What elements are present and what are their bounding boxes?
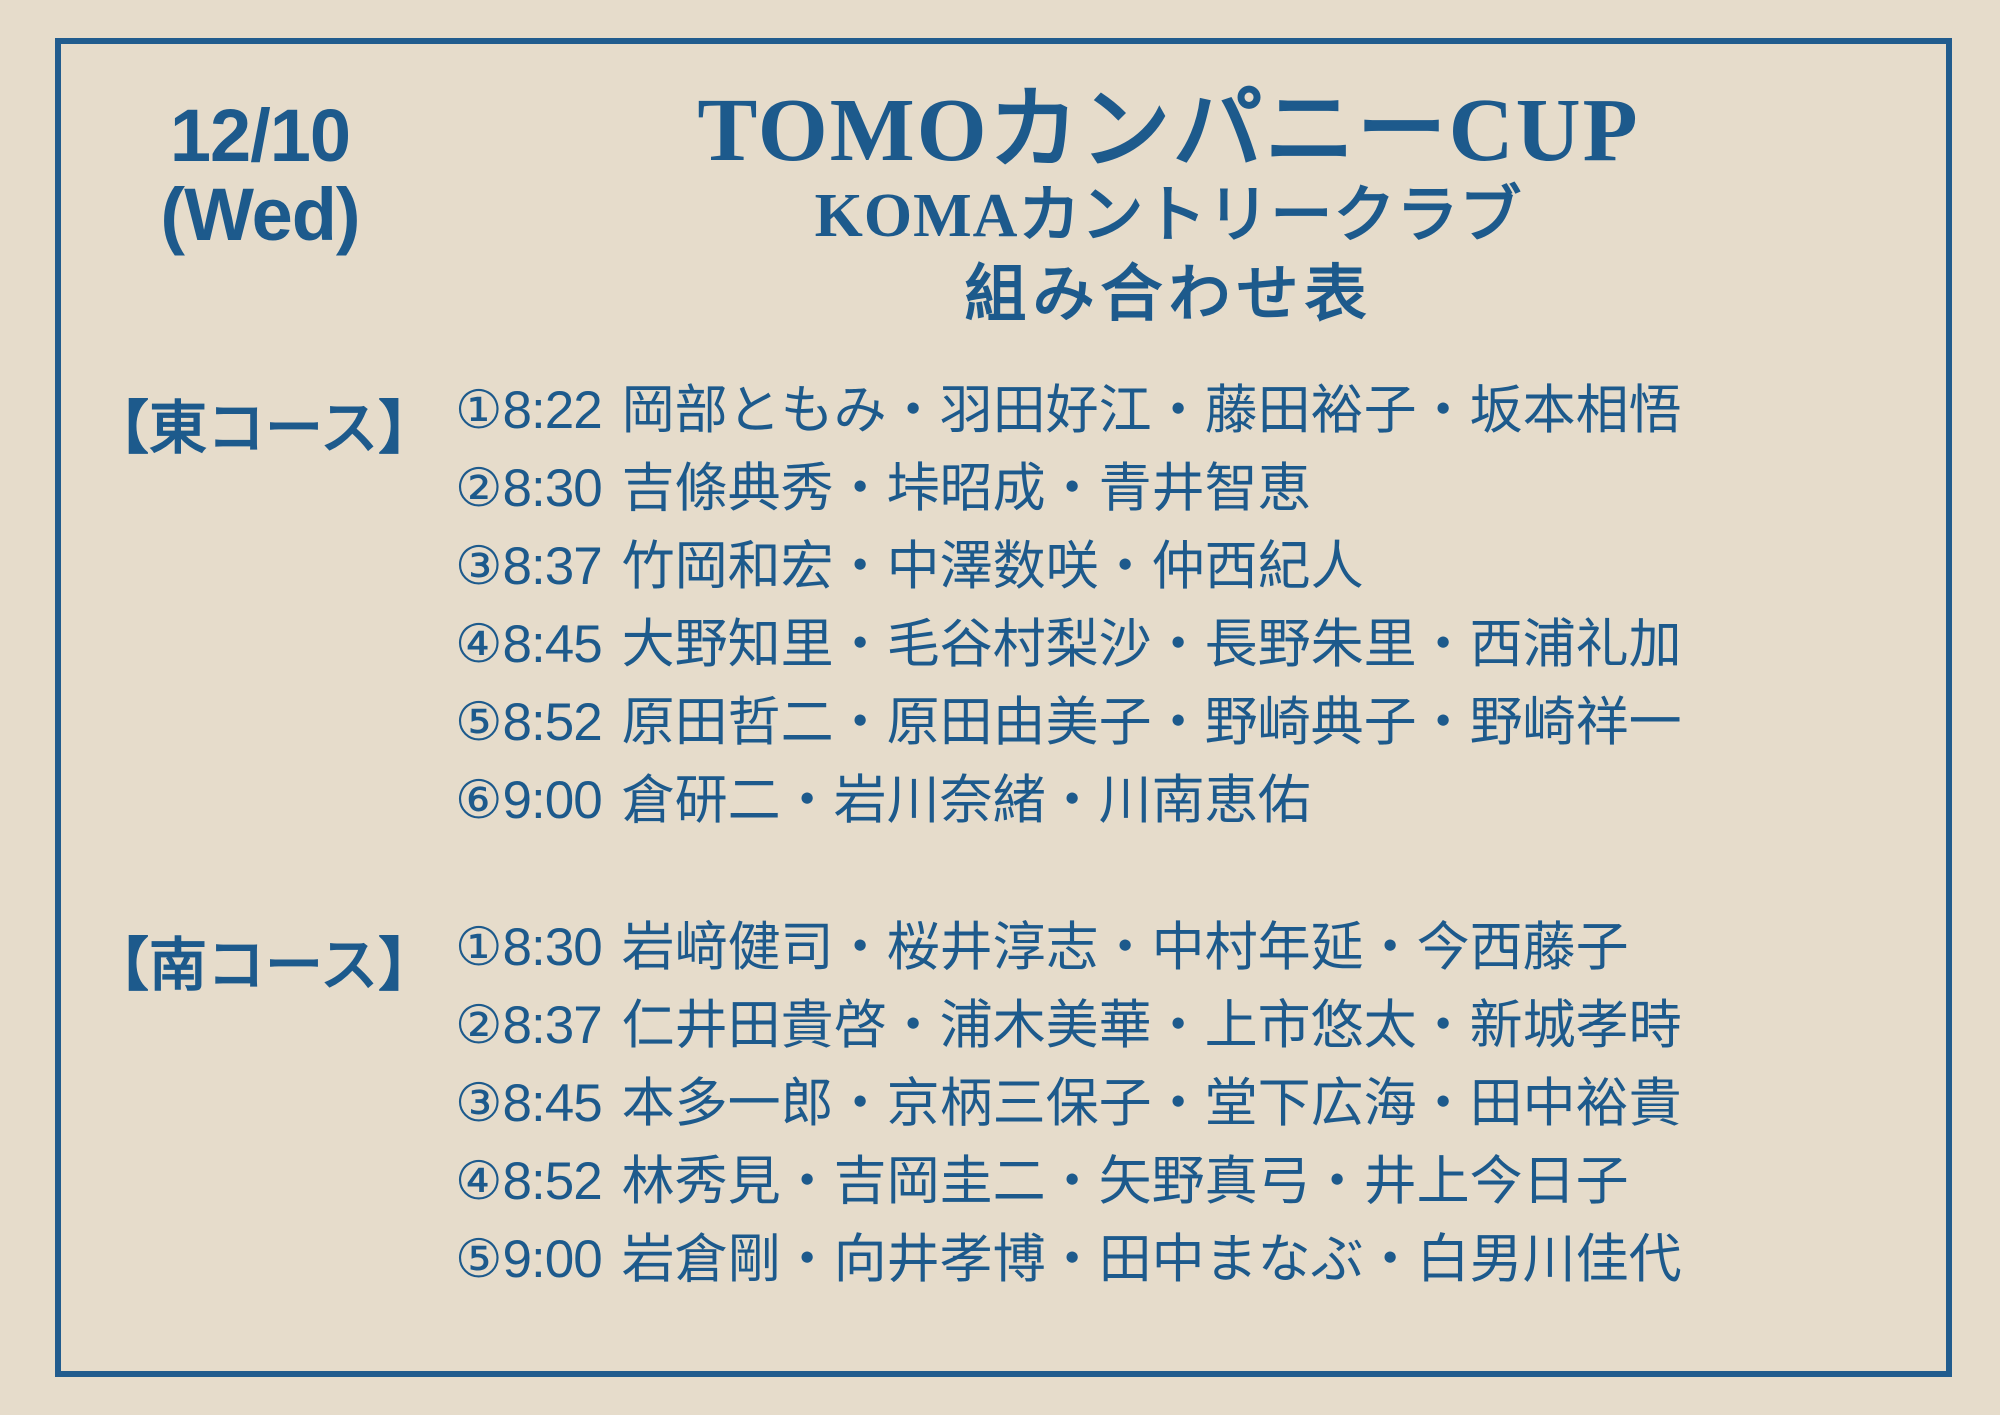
- poster-title-block: TOMOカンパニーCUP KOMAカントリークラブ 組み合わせ表: [385, 82, 1952, 333]
- group-row: ⑥9:00倉研二・岩川奈緒・川南恵佑: [455, 762, 1952, 840]
- course-label-south: 【南コース】: [55, 903, 455, 995]
- group-time: 8:45: [503, 1074, 602, 1133]
- event-date-line1: 12/10: [170, 94, 350, 177]
- group-time: 9:00: [503, 771, 602, 830]
- group-number: ④: [455, 615, 503, 674]
- group-row: ⑤8:52原田哲二・原田由美子・野崎典子・野崎祥一: [455, 684, 1952, 762]
- group-time: 8:22: [503, 381, 602, 440]
- group-time: 8:37: [503, 996, 602, 1055]
- group-players: 吉條典秀・垰昭成・青井智恵: [622, 459, 1311, 518]
- group-number: ③: [455, 537, 503, 596]
- group-players: 岡部ともみ・羽田好江・藤田裕子・坂本相悟: [622, 381, 1682, 440]
- group-row: ⑤9:00岩倉剛・向井孝博・田中まなぶ・白男川佳代: [455, 1221, 1952, 1299]
- group-row: ②8:37仁井田貴啓・浦木美華・上市悠太・新城孝時: [455, 987, 1952, 1065]
- group-number: ⑤: [455, 1230, 503, 1289]
- event-title: TOMOカンパニーCUP: [385, 82, 1952, 179]
- group-players: 本多一郎・京柄三保子・堂下広海・田中裕貴: [622, 1074, 1682, 1133]
- course-section-south: 【南コース】 ①8:30岩﨑健司・桜井淳志・中村年延・今西藤子 ②8:37仁井田…: [55, 903, 1952, 1299]
- group-number: ④: [455, 1152, 503, 1211]
- group-players: 倉研二・岩川奈緒・川南恵佑: [622, 771, 1311, 830]
- event-date-line2: (Wed): [110, 175, 410, 254]
- group-time: 9:00: [503, 1230, 602, 1289]
- group-players: 竹岡和宏・中澤数咲・仲西紀人: [622, 537, 1364, 596]
- group-time: 8:52: [503, 693, 602, 752]
- group-time: 8:37: [503, 537, 602, 596]
- group-number: ⑤: [455, 693, 503, 752]
- course-label-east: 【東コース】: [55, 366, 455, 458]
- group-players: 岩倉剛・向井孝博・田中まなぶ・白男川佳代: [622, 1230, 1682, 1289]
- group-row: ③8:45本多一郎・京柄三保子・堂下広海・田中裕貴: [455, 1065, 1952, 1143]
- group-players: 大野知里・毛谷村梨沙・長野朱里・西浦礼加: [622, 615, 1682, 674]
- course-section-east: 【東コース】 ①8:22岡部ともみ・羽田好江・藤田裕子・坂本相悟 ②8:30吉條…: [55, 366, 1952, 839]
- group-row: ①8:30岩﨑健司・桜井淳志・中村年延・今西藤子: [455, 909, 1952, 987]
- group-row: ④8:45大野知里・毛谷村梨沙・長野朱里・西浦礼加: [455, 606, 1952, 684]
- group-time: 8:30: [503, 918, 602, 977]
- event-date: 12/10 (Wed): [110, 96, 410, 254]
- group-time: 8:30: [503, 459, 602, 518]
- tournament-pairing-poster: 12/10 (Wed) TOMOカンパニーCUP KOMAカントリークラブ 組み…: [0, 0, 2000, 1415]
- group-number: ②: [455, 459, 503, 518]
- group-players: 原田哲二・原田由美子・野崎典子・野崎祥一: [622, 693, 1682, 752]
- group-row: ①8:22岡部ともみ・羽田好江・藤田裕子・坂本相悟: [455, 372, 1952, 450]
- group-players: 仁井田貴啓・浦木美華・上市悠太・新城孝時: [622, 996, 1682, 1055]
- group-row: ③8:37竹岡和宏・中澤数咲・仲西紀人: [455, 528, 1952, 606]
- group-time: 8:52: [503, 1152, 602, 1211]
- group-number: ③: [455, 1074, 503, 1133]
- group-players: 岩﨑健司・桜井淳志・中村年延・今西藤子: [622, 918, 1629, 977]
- group-list-south: ①8:30岩﨑健司・桜井淳志・中村年延・今西藤子 ②8:37仁井田貴啓・浦木美華…: [455, 903, 1952, 1299]
- group-players: 林秀見・吉岡圭二・矢野真弓・井上今日子: [622, 1152, 1629, 1211]
- group-row: ②8:30吉條典秀・垰昭成・青井智恵: [455, 450, 1952, 528]
- poster-content: 12/10 (Wed) TOMOカンパニーCUP KOMAカントリークラブ 組み…: [55, 38, 1952, 1377]
- group-number: ①: [455, 381, 503, 440]
- group-row: ④8:52林秀見・吉岡圭二・矢野真弓・井上今日子: [455, 1143, 1952, 1221]
- group-time: 8:45: [503, 615, 602, 674]
- group-number: ②: [455, 996, 503, 1055]
- document-type-heading: 組み合わせ表: [385, 258, 1952, 332]
- venue-name: KOMAカントリークラブ: [385, 181, 1952, 252]
- group-list-east: ①8:22岡部ともみ・羽田好江・藤田裕子・坂本相悟 ②8:30吉條典秀・垰昭成・…: [455, 366, 1952, 839]
- group-number: ①: [455, 918, 503, 977]
- poster-header: 12/10 (Wed) TOMOカンパニーCUP KOMAカントリークラブ 組み…: [55, 38, 1952, 358]
- group-number: ⑥: [455, 771, 503, 830]
